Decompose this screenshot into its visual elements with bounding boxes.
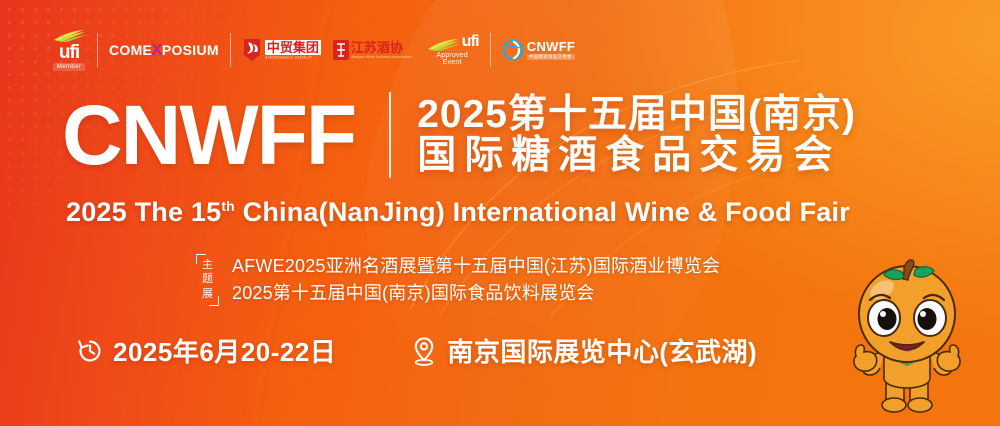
logo-divider bbox=[230, 33, 231, 67]
logo-jiangsu-wine-association[interactable]: 江苏酒协 Jiangsu Wine Industry Association bbox=[333, 27, 412, 73]
event-info-row: 2025年6月20-22日 南京国际展览中心(玄武湖) bbox=[76, 332, 757, 369]
clock-icon bbox=[76, 337, 104, 365]
logo-ufi-member[interactable]: ufi Member bbox=[52, 27, 86, 73]
location-pin-icon bbox=[410, 336, 438, 366]
logo-divider bbox=[490, 33, 491, 67]
partner-logo-strip: ufi Member COMEXPOSIUM 中贸集团 ZHONGMAO GRO… bbox=[52, 26, 575, 74]
brand-acronym: CNWFF bbox=[62, 95, 355, 176]
theme-badge-char-1: 主 bbox=[202, 259, 213, 272]
jiangsu-en-name: Jiangsu Wine Industry Association bbox=[351, 55, 412, 59]
ufi-wings-icon bbox=[52, 29, 86, 42]
theme-line-2: 2025第十五届中国(南京)国际食品饮料展览会 bbox=[232, 281, 720, 305]
theme-line-1: AFWE2025亚洲名酒展暨第十五届中国(江苏)国际酒业博览会 bbox=[232, 254, 720, 278]
event-banner: ufi Member COMEXPOSIUM 中贸集团 ZHONGMAO GRO… bbox=[0, 0, 1000, 426]
theme-badge-char-3: 展 bbox=[202, 288, 213, 301]
zhongmao-en-name: ZHONGMAO GROUP bbox=[265, 56, 321, 61]
comexposium-part2: POSIUM bbox=[162, 42, 219, 58]
orange-fruit-mascot bbox=[822, 252, 992, 426]
theme-exhibitions: 主 题 展 AFWE2025亚洲名酒展暨第十五届中国(江苏)国际酒业博览会 20… bbox=[196, 254, 720, 306]
event-venue: 南京国际展览中心(玄武湖) bbox=[410, 332, 757, 369]
page-title: 2025第十五届中国(南京) 国际糖酒食品交易会 bbox=[417, 94, 856, 177]
event-date: 2025年6月20-22日 bbox=[76, 332, 336, 369]
theme-badge-char-2: 题 bbox=[202, 273, 213, 286]
title-en-rest: China(NanJing) International Wine & Food… bbox=[235, 197, 850, 227]
logo-ufi-approved-event[interactable]: ufi Approved Event bbox=[426, 27, 479, 73]
title-cn-line1: 2025第十五届中国(南京) bbox=[417, 94, 856, 135]
ufi-event-label: Event bbox=[443, 59, 462, 66]
jiangsu-seal-icon bbox=[333, 40, 349, 60]
ufi-approved-label: Approved bbox=[436, 52, 468, 59]
zhongmao-cn-name: 中贸集团 bbox=[265, 40, 321, 55]
ufi-member-label: Member bbox=[53, 63, 85, 71]
event-date-text: 2025年6月20-22日 bbox=[113, 332, 336, 369]
ufi-approved-wordmark: ufi bbox=[462, 34, 479, 51]
theme-badge: 主 题 展 bbox=[196, 254, 219, 306]
headline-divider bbox=[389, 92, 391, 178]
title-en-ordinal: th bbox=[221, 198, 235, 214]
title-en: 2025 The 15th China(NanJing) Internation… bbox=[66, 197, 850, 228]
event-venue-text: 南京国际展览中心(玄武湖) bbox=[447, 332, 757, 369]
cnwff-globe-icon bbox=[502, 39, 524, 61]
headline-block: CNWFF 2025第十五届中国(南京) 国际糖酒食品交易会 bbox=[62, 92, 856, 178]
logo-zhongmao-group[interactable]: 中贸集团 ZHONGMAO GROUP bbox=[242, 27, 321, 73]
cnwff-logo-subtext: 中国糖酒食品交易会 bbox=[527, 54, 575, 60]
comexposium-part1: COME bbox=[109, 42, 152, 58]
logo-comexposium[interactable]: COMEXPOSIUM bbox=[109, 27, 219, 73]
title-cn-line2: 国际糖酒食品交易会 bbox=[417, 135, 856, 176]
logo-divider bbox=[97, 33, 98, 67]
ufi-wordmark: ufi bbox=[59, 43, 79, 62]
cnwff-logo-text: CNWFF bbox=[527, 40, 575, 53]
jiangsu-cn-name: 江苏酒协 bbox=[351, 41, 412, 54]
ufi-approved-wings-icon bbox=[426, 38, 460, 51]
title-en-prefix: 2025 The 15 bbox=[66, 197, 221, 227]
logo-cnwff-mark[interactable]: CNWFF 中国糖酒食品交易会 bbox=[502, 27, 575, 73]
zhongmao-shield-icon bbox=[242, 38, 262, 62]
